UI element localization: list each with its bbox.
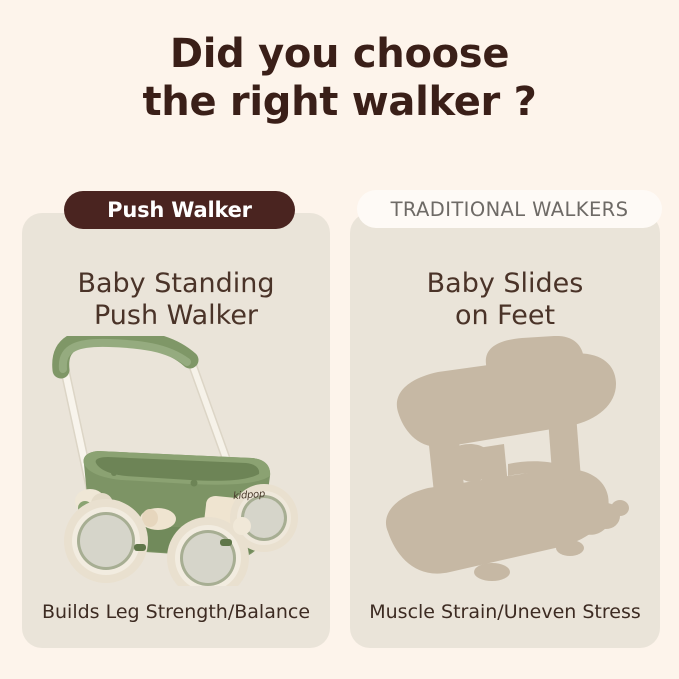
badge-traditional-walkers[interactable]: TRADITIONAL WALKERS <box>357 190 662 228</box>
push-walker-title-line-2: Push Walker <box>22 300 330 332</box>
push-walker-title-line-1: Baby Standing <box>22 268 330 300</box>
traditional-walker-illustration <box>358 336 654 586</box>
page-title-line-1: Did you choose <box>0 30 679 78</box>
page-title-line-2: the right walker ? <box>0 78 679 126</box>
traditional-walker-title-line-2: on Feet <box>350 300 660 332</box>
traditional-walker-title: Baby Slides on Feet <box>350 268 660 332</box>
push-walker-caption: Builds Leg Strength/Balance <box>22 601 330 623</box>
push-walker-illustration <box>30 336 322 586</box>
traditional-walker-title-line-1: Baby Slides <box>350 268 660 300</box>
page-title: Did you choose the right walker ? <box>0 30 679 126</box>
push-walker-title: Baby Standing Push Walker <box>22 268 330 332</box>
traditional-walker-caption: Muscle Strain/Uneven Stress <box>350 601 660 623</box>
badge-push-walker[interactable]: Push Walker <box>64 191 295 229</box>
